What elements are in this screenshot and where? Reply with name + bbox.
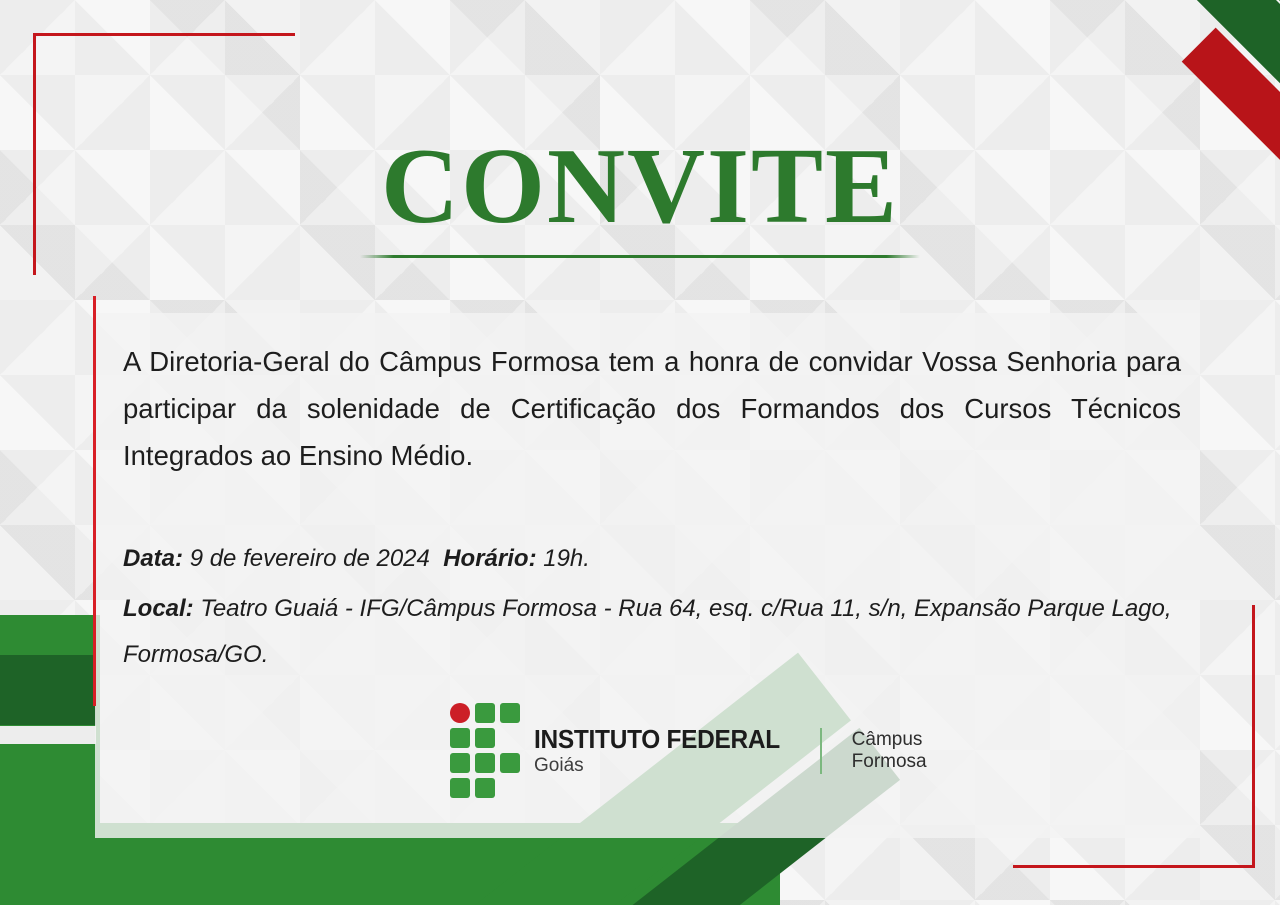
- campus-line-1: Câmpus: [852, 729, 927, 751]
- if-mark-cell-r2c1: [450, 728, 470, 748]
- if-mark-icon: [450, 703, 520, 798]
- ifg-logo: INSTITUTO FEDERAL Goiás Câmpus Formosa: [450, 703, 927, 798]
- time-label: Horário:: [443, 545, 536, 572]
- ribbon-stripe-green-right: [1176, 0, 1280, 32]
- wordmark-main: INSTITUTO FEDERAL: [534, 726, 780, 752]
- invitation-poster: CONVITE A Diretoria-Geral do Câmpus Form…: [0, 0, 1280, 905]
- invitation-body-text: A Diretoria-Geral do Câmpus Formosa tem …: [123, 338, 1181, 479]
- place-label: Local:: [123, 595, 194, 622]
- frame-notch-gap: [0, 726, 96, 744]
- bracket-top-left-horizontal: [33, 33, 295, 36]
- frame-notch-darkgreen: [0, 655, 96, 725]
- if-mark-cell-r4c2: [475, 778, 495, 798]
- campus-line-2: Formosa: [852, 751, 927, 773]
- if-mark-cell-r3c3: [500, 753, 520, 773]
- campus-label: Câmpus Formosa: [852, 729, 927, 773]
- title-underline: [360, 255, 920, 258]
- if-mark-cell-r4c1: [450, 778, 470, 798]
- title-block: CONVITE: [0, 133, 1280, 258]
- ifg-wordmark: INSTITUTO FEDERAL Goiás: [534, 726, 796, 775]
- date-value: 9 de fevereiro de 2024: [190, 545, 430, 572]
- time-value: 19h.: [543, 545, 590, 572]
- if-mark-cell-r2c2: [475, 728, 495, 748]
- page-title: CONVITE: [0, 133, 1280, 241]
- ribbon-stripe-darkgreen-right: [1176, 0, 1280, 114]
- date-label: Data:: [123, 545, 183, 572]
- if-mark-cell-r3c2: [475, 753, 495, 773]
- logo-divider: [820, 728, 822, 774]
- if-mark-cell-r2c3: [500, 728, 520, 748]
- if-mark-cell-r1c1: [450, 703, 470, 723]
- if-mark-cell-r1c3: [500, 703, 520, 723]
- wordmark-sub: Goiás: [534, 756, 796, 775]
- red-accent-rule: [93, 296, 96, 706]
- if-mark-cell-r1c2: [475, 703, 495, 723]
- event-details: Data: 9 de fevereiro de 2024 Horário: 19…: [123, 536, 1183, 678]
- if-mark-cell-r3c1: [450, 753, 470, 773]
- place-value: Teatro Guaiá - IFG/Câmpus Formosa - Rua …: [123, 595, 1172, 668]
- if-mark-cell-r4c3: [500, 778, 520, 798]
- detail-row-date: Data: 9 de fevereiro de 2024 Horário: 19…: [123, 536, 1183, 582]
- bracket-bottom-right-horizontal: [1013, 865, 1255, 868]
- bracket-bottom-right-vertical: [1252, 605, 1255, 868]
- detail-row-place: Local: Teatro Guaiá - IFG/Câmpus Formosa…: [123, 586, 1183, 678]
